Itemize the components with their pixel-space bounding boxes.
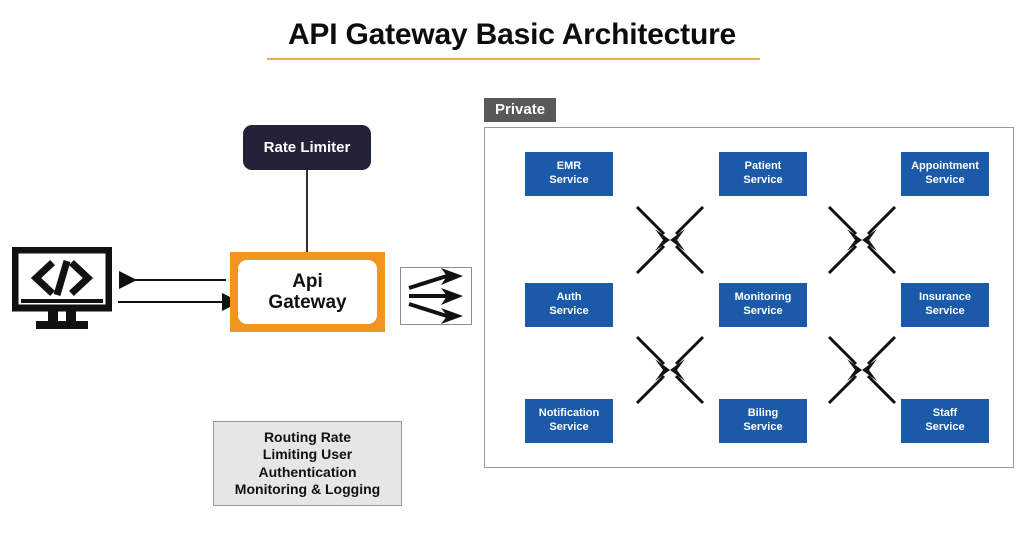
service-label-line2: Service	[549, 174, 588, 188]
feature-line-1: Routing Rate	[264, 429, 351, 446]
service-label-line1: Biling	[748, 407, 779, 421]
api-gateway-inner: Api Gateway	[238, 260, 377, 324]
service-label-line1: Staff	[933, 407, 957, 421]
api-gateway-label-line2: Gateway	[268, 292, 346, 313]
service-box[interactable]: InsuranceService	[901, 283, 989, 327]
service-box[interactable]: NotificationService	[525, 399, 613, 443]
service-label-line1: Monitoring	[735, 291, 792, 305]
service-box[interactable]: AppointmentService	[901, 152, 989, 196]
api-gateway-node[interactable]: Api Gateway	[230, 252, 385, 332]
convergent-arrows-bottom-left	[633, 333, 707, 407]
service-box[interactable]: EMRService	[525, 152, 613, 196]
service-box[interactable]: PatientService	[719, 152, 807, 196]
page-title: API Gateway Basic Architecture	[0, 18, 1024, 52]
service-box[interactable]: StaffService	[901, 399, 989, 443]
service-label-line1: Auth	[556, 291, 581, 305]
service-label-line1: Insurance	[919, 291, 971, 305]
title-underline	[267, 58, 760, 60]
gateway-features-note: Routing Rate Limiting User Authenticatio…	[213, 421, 402, 506]
private-zone-label: Private	[484, 98, 556, 122]
convergent-arrows-top-left	[633, 203, 707, 277]
service-label-line1: EMR	[557, 160, 581, 174]
service-box[interactable]: BilingService	[719, 399, 807, 443]
service-label-line2: Service	[925, 174, 964, 188]
client-gateway-arrows	[114, 270, 234, 314]
service-label-line2: Service	[743, 421, 782, 435]
api-gateway-label-line1: Api	[292, 271, 323, 292]
service-label-line2: Service	[549, 305, 588, 319]
rate-limiter-node[interactable]: Rate Limiter	[243, 125, 371, 170]
service-box[interactable]: MonitoringService	[719, 283, 807, 327]
service-label-line1: Notification	[539, 407, 600, 421]
service-label-line2: Service	[925, 421, 964, 435]
feature-line-2: Limiting User	[263, 446, 352, 463]
convergent-arrows-bottom-right	[825, 333, 899, 407]
service-box[interactable]: AuthService	[525, 283, 613, 327]
service-label-line2: Service	[549, 421, 588, 435]
feature-line-4: Monitoring & Logging	[235, 481, 380, 498]
convergent-arrows-top-right	[825, 203, 899, 277]
rate-limiter-connector-line	[306, 170, 308, 252]
fan-out-arrows-icon	[400, 267, 472, 325]
service-label-line1: Patient	[745, 160, 782, 174]
rate-limiter-label: Rate Limiter	[264, 139, 351, 156]
service-label-line2: Service	[743, 305, 782, 319]
code-monitor-icon	[12, 247, 112, 331]
service-label-line2: Service	[925, 305, 964, 319]
private-zone-container: EMRServicePatientServiceAppointmentServi…	[484, 127, 1014, 468]
service-label-line1: Appointment	[911, 160, 979, 174]
service-label-line2: Service	[743, 174, 782, 188]
feature-line-3: Authentication	[259, 464, 357, 481]
